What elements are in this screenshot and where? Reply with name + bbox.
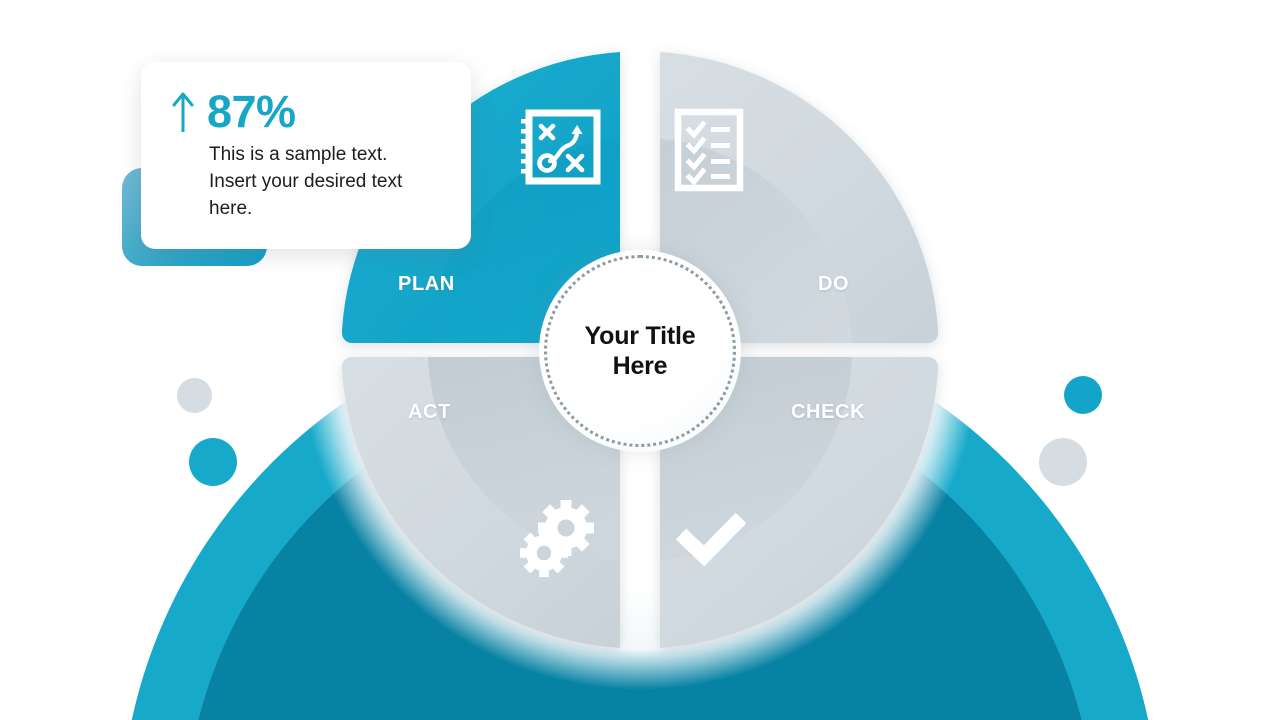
segment-label-plan[interactable]: PLAN [398, 273, 455, 296]
page-title-line1: Your Title [555, 321, 725, 352]
kpi-value: 87% [207, 89, 296, 134]
slide-canvas: PLAN DO CHECK ACT Your Title Here 87% Th… [0, 0, 1280, 720]
segment-label-check[interactable]: CHECK [791, 401, 865, 424]
center-hub[interactable]: Your Title Here [539, 250, 741, 452]
callout-kpi-row: 87% [171, 88, 443, 134]
up-arrow-icon [171, 88, 195, 134]
callout-description: This is a sample text. Insert your desir… [209, 142, 434, 223]
segment-label-act[interactable]: ACT [408, 401, 451, 424]
segment-label-do[interactable]: DO [818, 273, 849, 296]
page-title: Your Title Here [555, 321, 725, 382]
page-title-line2: Here [555, 351, 725, 382]
callout-card[interactable]: 87% This is a sample text. Insert your d… [141, 62, 471, 249]
